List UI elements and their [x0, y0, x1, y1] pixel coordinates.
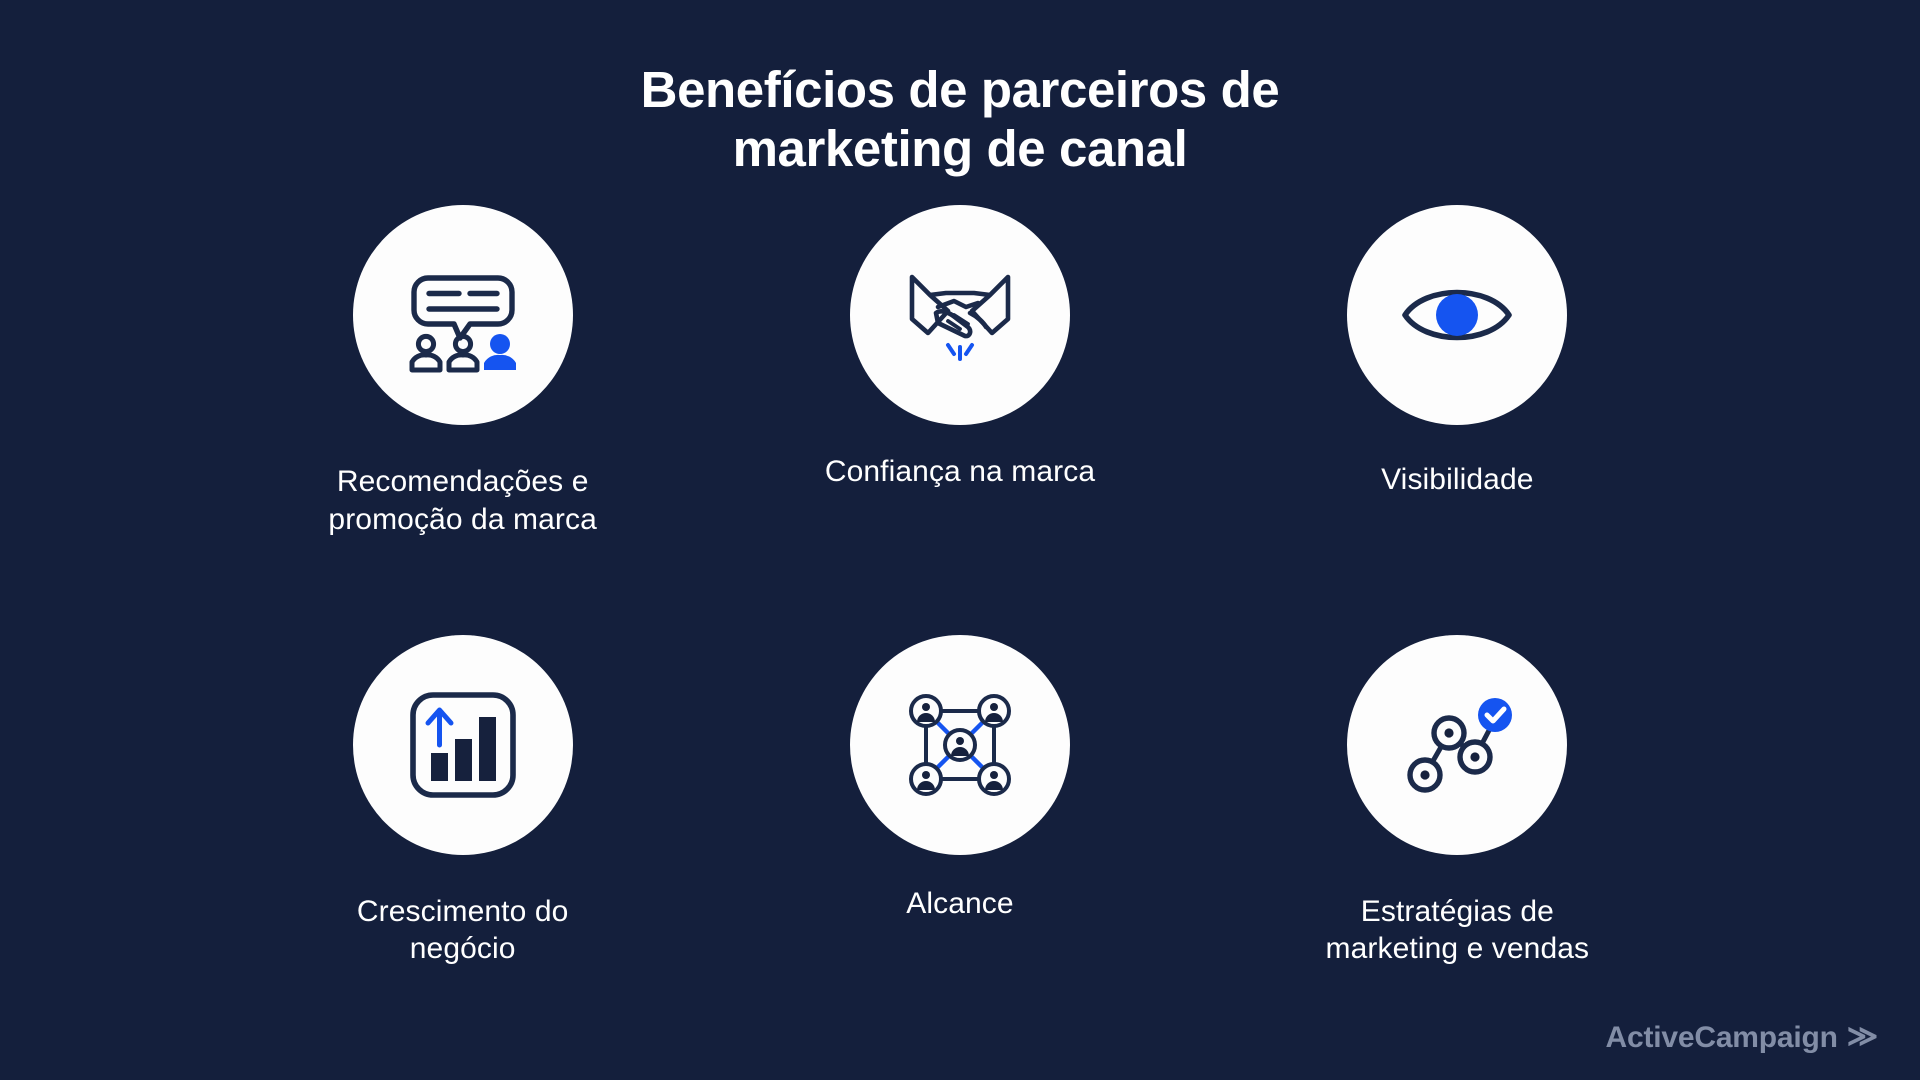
strategy-path-check-icon [1401, 695, 1513, 795]
benefit-item-visibilidade: Visibilidade [1209, 205, 1706, 539]
benefit-item-alcance: Alcance [711, 635, 1208, 969]
benefit-item-recomendacoes: Recomendações e promoção da marca [214, 205, 711, 539]
benefit-label-line-1: Recomendações e [337, 465, 589, 498]
benefit-label: Crescimento do negócio [357, 893, 569, 969]
benefit-label: Visibilidade [1381, 461, 1533, 499]
benefit-icon-badge [850, 205, 1070, 425]
benefit-label-line-1: Alcance [906, 887, 1013, 920]
benefit-icon-badge [353, 205, 573, 425]
benefit-icon-badge [850, 635, 1070, 855]
page-title: Benefícios de parceiros de marketing de … [0, 60, 1920, 178]
handshake-icon [908, 263, 1012, 367]
benefits-grid: Recomendações e promoção da marca [214, 205, 1706, 968]
benefit-label-line-1: Crescimento do [357, 895, 569, 928]
benefit-label: Estratégias de marketing e vendas [1326, 893, 1590, 969]
page-title-line-2: marketing de canal [0, 119, 1920, 178]
benefit-label: Recomendações e promoção da marca [328, 463, 597, 539]
eye-icon [1401, 279, 1513, 351]
benefit-label-line-2: promoção da marca [328, 503, 597, 536]
speech-bubble-people-icon [404, 256, 522, 374]
benefit-icon-badge [1347, 205, 1567, 425]
benefit-item-crescimento: Crescimento do negócio [214, 635, 711, 969]
page-title-line-1: Benefícios de parceiros de [0, 60, 1920, 119]
benefit-label-line-1: Estratégias de [1361, 895, 1554, 928]
activecampaign-logo: ActiveCampaign ≫ [1606, 1019, 1878, 1056]
brand-name: ActiveCampaign [1606, 1021, 1838, 1055]
benefit-item-confianca: Confiança na marca [711, 205, 1208, 539]
benefit-label: Confiança na marca [825, 453, 1095, 491]
benefit-label-line-1: Confiança na marca [825, 455, 1095, 488]
slide-canvas: Benefícios de parceiros de marketing de … [0, 0, 1920, 1080]
benefit-label-line-2: negócio [410, 932, 516, 965]
bar-chart-growth-icon [409, 691, 517, 799]
benefit-icon-badge [353, 635, 573, 855]
benefit-item-estrategias: Estratégias de marketing e vendas [1209, 635, 1706, 969]
benefit-label-line-1: Visibilidade [1381, 463, 1533, 496]
benefit-label: Alcance [906, 885, 1013, 923]
network-nodes-icon [908, 693, 1012, 797]
benefit-icon-badge [1347, 635, 1567, 855]
chevron-double-right-icon: ≫ [1847, 1019, 1878, 1054]
benefit-label-line-2: marketing e vendas [1326, 932, 1590, 965]
